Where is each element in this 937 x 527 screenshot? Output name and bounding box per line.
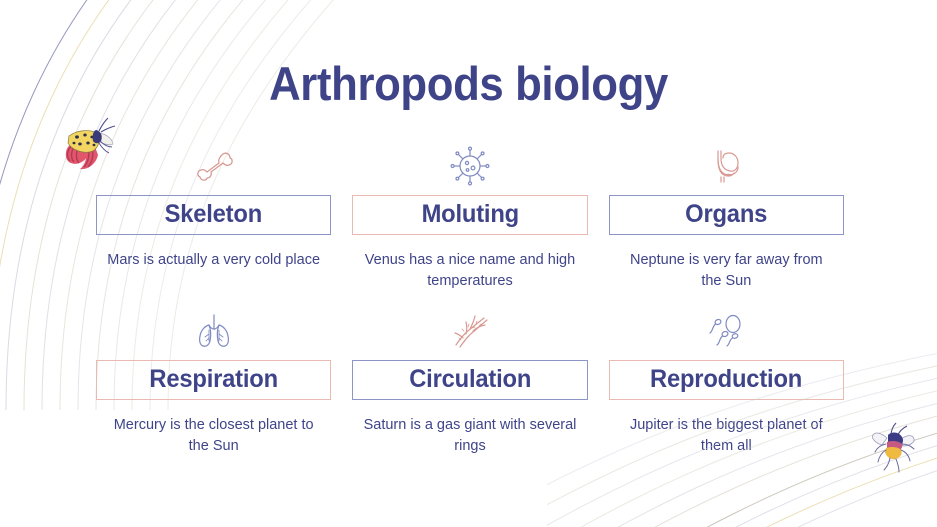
card-title-label: Circulation: [409, 366, 531, 392]
card-title-box-circulation: Circulation: [352, 360, 587, 400]
card-title-box-moluting: Moluting: [352, 195, 587, 235]
page-title: Arthropods biology: [33, 58, 904, 110]
card-description: Mars is actually a very cold place: [107, 250, 320, 271]
card-title-box-skeleton: Skeleton: [96, 195, 331, 235]
card-skeleton[interactable]: Skeleton Mars is actually a very cold pl…: [96, 140, 331, 305]
card-title-box-organs: Organs: [609, 195, 844, 235]
lungs-icon: [192, 305, 236, 357]
card-title-box-respiration: Respiration: [96, 360, 331, 400]
virus-cell-icon: [448, 140, 492, 192]
card-description: Venus has a nice name and high temperatu…: [362, 250, 577, 292]
blood-vessel-icon: [448, 305, 492, 357]
card-description: Saturn is a gas giant with several rings: [362, 415, 577, 457]
card-organs[interactable]: Organs Neptune is very far away from the…: [609, 140, 844, 305]
card-description: Mercury is the closest planet to the Sun: [106, 415, 321, 457]
card-title-label: Organs: [685, 201, 767, 227]
stomach-icon: [704, 140, 748, 192]
sperm-egg-icon: [704, 305, 748, 357]
card-moluting[interactable]: Moluting Venus has a nice name and high …: [352, 140, 587, 305]
card-title-box-reproduction: Reproduction: [609, 360, 844, 400]
card-title-label: Skeleton: [165, 201, 262, 227]
bee-illustration: [866, 420, 922, 481]
card-circulation[interactable]: Circulation Saturn is a gas giant with s…: [352, 305, 587, 470]
card-title-label: Reproduction: [650, 366, 802, 392]
feature-card-grid: Skeleton Mars is actually a very cold pl…: [96, 140, 844, 470]
card-description: Neptune is very far away from the Sun: [619, 250, 834, 292]
card-respiration[interactable]: Respiration Mercury is the closest plane…: [96, 305, 331, 470]
card-description: Jupiter is the biggest planet of them al…: [619, 415, 834, 457]
card-title-label: Respiration: [149, 366, 278, 392]
presentation-slide: Arthropods biology Skeleton Mars is actu…: [0, 0, 937, 527]
card-title-label: Moluting: [421, 201, 518, 227]
card-reproduction[interactable]: Reproduction Jupiter is the biggest plan…: [609, 305, 844, 470]
bone-icon: [192, 140, 236, 192]
